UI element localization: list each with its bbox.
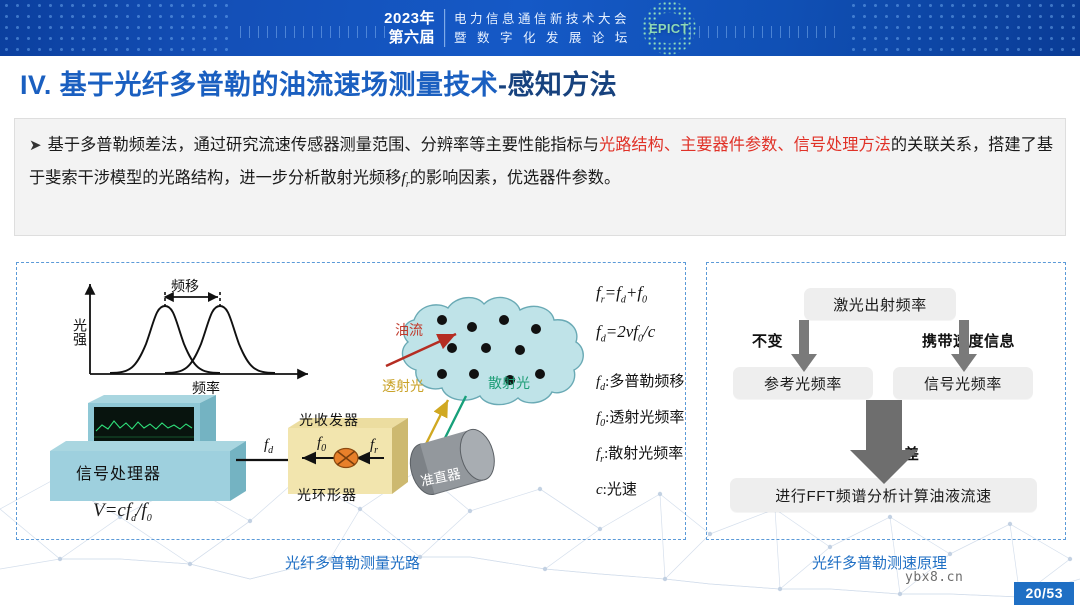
flow-label-carries-velocity: 携带速度信息 [922,330,1015,351]
formula-fd-rhs: =2vf [606,322,638,341]
formula-fr: fr=fd+f0 [596,283,696,305]
flow-box-reference-frequency: 参考光频率 [733,367,873,399]
banner-dot-pattern-right [850,0,1080,56]
flow-label-heterodyne: 光外差 [873,443,920,464]
definition-fr-text: :散射光频率 [604,446,683,462]
summary-paragraph: ➤ 基于多普勒频差法，通过研究流速传感器测量范围、分辨率等主要性能指标与光路结构… [29,129,1053,201]
chart-frequency-shift-label: 频移 [171,276,199,296]
summary-paragraph-box: ➤ 基于多普勒频差法，通过研究流速传感器测量范围、分辨率等主要性能指标与光路结构… [14,118,1066,236]
paragraph-segment-1: 基于多普勒频差法，通过研究流速传感器测量范围、分辨率等主要性能指标与 [48,136,599,154]
flow-box-laser-frequency: 激光出射频率 [804,288,956,320]
flow-label-unchanged: 不变 [752,330,783,351]
definition-f0-text: :透射光频率 [605,410,684,426]
banner-center-group: 2023年 第六届 电力信息通信新技术大会 暨 数 字 化 发 展 论 坛 EP… [384,0,696,56]
banner-title-line2: 暨 数 字 化 发 展 论 坛 [454,30,631,46]
paragraph-segment-3: 的影响因素，优选器件参数。 [410,169,620,187]
optical-circulator-label: 光环形器 [297,485,357,505]
definition-fd-text: :多普勒频移 [605,374,684,390]
velocity-formula: V=cfd/f0 [93,500,152,524]
formula-legend-list: fr=fd+f0 fd=2vf0/c fd:多普勒频移 f0:透射光频率 fr:… [596,283,696,512]
banner-year-block: 2023年 第六届 [384,10,435,46]
formula-fr-rhs: =f [605,283,621,302]
chart-y-axis-label: 光强 [70,318,90,346]
symbol-fd: fd [264,437,273,456]
epict-logo-text: EPICT [649,21,689,36]
definition-fr: fr:散射光频率 [596,442,696,465]
signal-processor-device [40,395,260,510]
velocity-formula-sub2: 0 [147,513,152,524]
page-title: IV. 基于光纤多普勒的油流速场测量技术-感知方法 [20,63,617,102]
banner-session: 第六届 [384,29,435,46]
epict-logo: EPICT [642,1,696,55]
transmitted-light-label: 透射光 [382,376,424,396]
banner-title-block: 电力信息通信新技术大会 暨 数 字 化 发 展 论 坛 [454,11,631,46]
definition-c: c:光速 [596,478,696,499]
oil-flow-label: 油流 [395,320,423,340]
banner-year: 2023年 [384,10,435,27]
definition-f0: f0:透射光频率 [596,406,696,429]
flow-box-fft-analysis: 进行FFT频谱分析计算油液流速 [730,478,1037,512]
banner-divider [444,9,445,47]
signal-processor-label: 信号处理器 [76,460,161,484]
page-title-index: IV. [20,70,60,100]
symbol-f0: f0 [317,435,326,454]
formula-fd-tail: /c [643,322,655,341]
symbol-fr: fr [370,437,378,456]
page-number-badge: 20/53 [1014,582,1074,605]
page-title-main: 基于光纤多普勒的油流速场测量技术 [60,70,498,100]
banner-tick-pattern-right [690,26,840,38]
symbol-f0-sub: 0 [321,443,326,454]
paragraph-highlight-red: 光路结构、主要器件参数、信号处理方法 [599,136,891,154]
definition-c-sym: c [596,482,603,498]
watermark-text: ybx8.cn [905,570,963,585]
formula-fr-tail-sub: 0 [642,294,647,305]
definition-c-text: :光速 [603,482,637,498]
left-panel-caption: 光纤多普勒测量光路 [285,552,420,573]
velocity-formula-head: V=cf [93,500,131,521]
banner-tick-pattern-left [240,26,390,38]
bullet-icon: ➤ [29,138,42,154]
banner-title-line1: 电力信息通信新技术大会 [454,11,631,27]
formula-fd: fd=2vf0/c [596,322,696,344]
symbol-fd-sub: d [268,445,273,456]
optical-transceiver-label: 光收发器 [299,410,359,430]
page-title-suffix: -感知方法 [498,70,617,100]
definition-fd: fd:多普勒频移 [596,370,696,393]
symbol-fr-sub: r [374,445,378,456]
banner-dot-pattern-left [0,0,230,56]
velocity-formula-tail: /f [136,500,147,521]
conference-banner: 2023年 第六届 电力信息通信新技术大会 暨 数 字 化 发 展 论 坛 EP… [0,0,1080,56]
slide-root: 2023年 第六届 电力信息通信新技术大会 暨 数 字 化 发 展 论 坛 EP… [0,0,1080,609]
scattered-light-label: 散射光 [488,373,530,393]
formula-fr-tail: +f [626,283,642,302]
flow-box-signal-frequency: 信号光频率 [893,367,1033,399]
